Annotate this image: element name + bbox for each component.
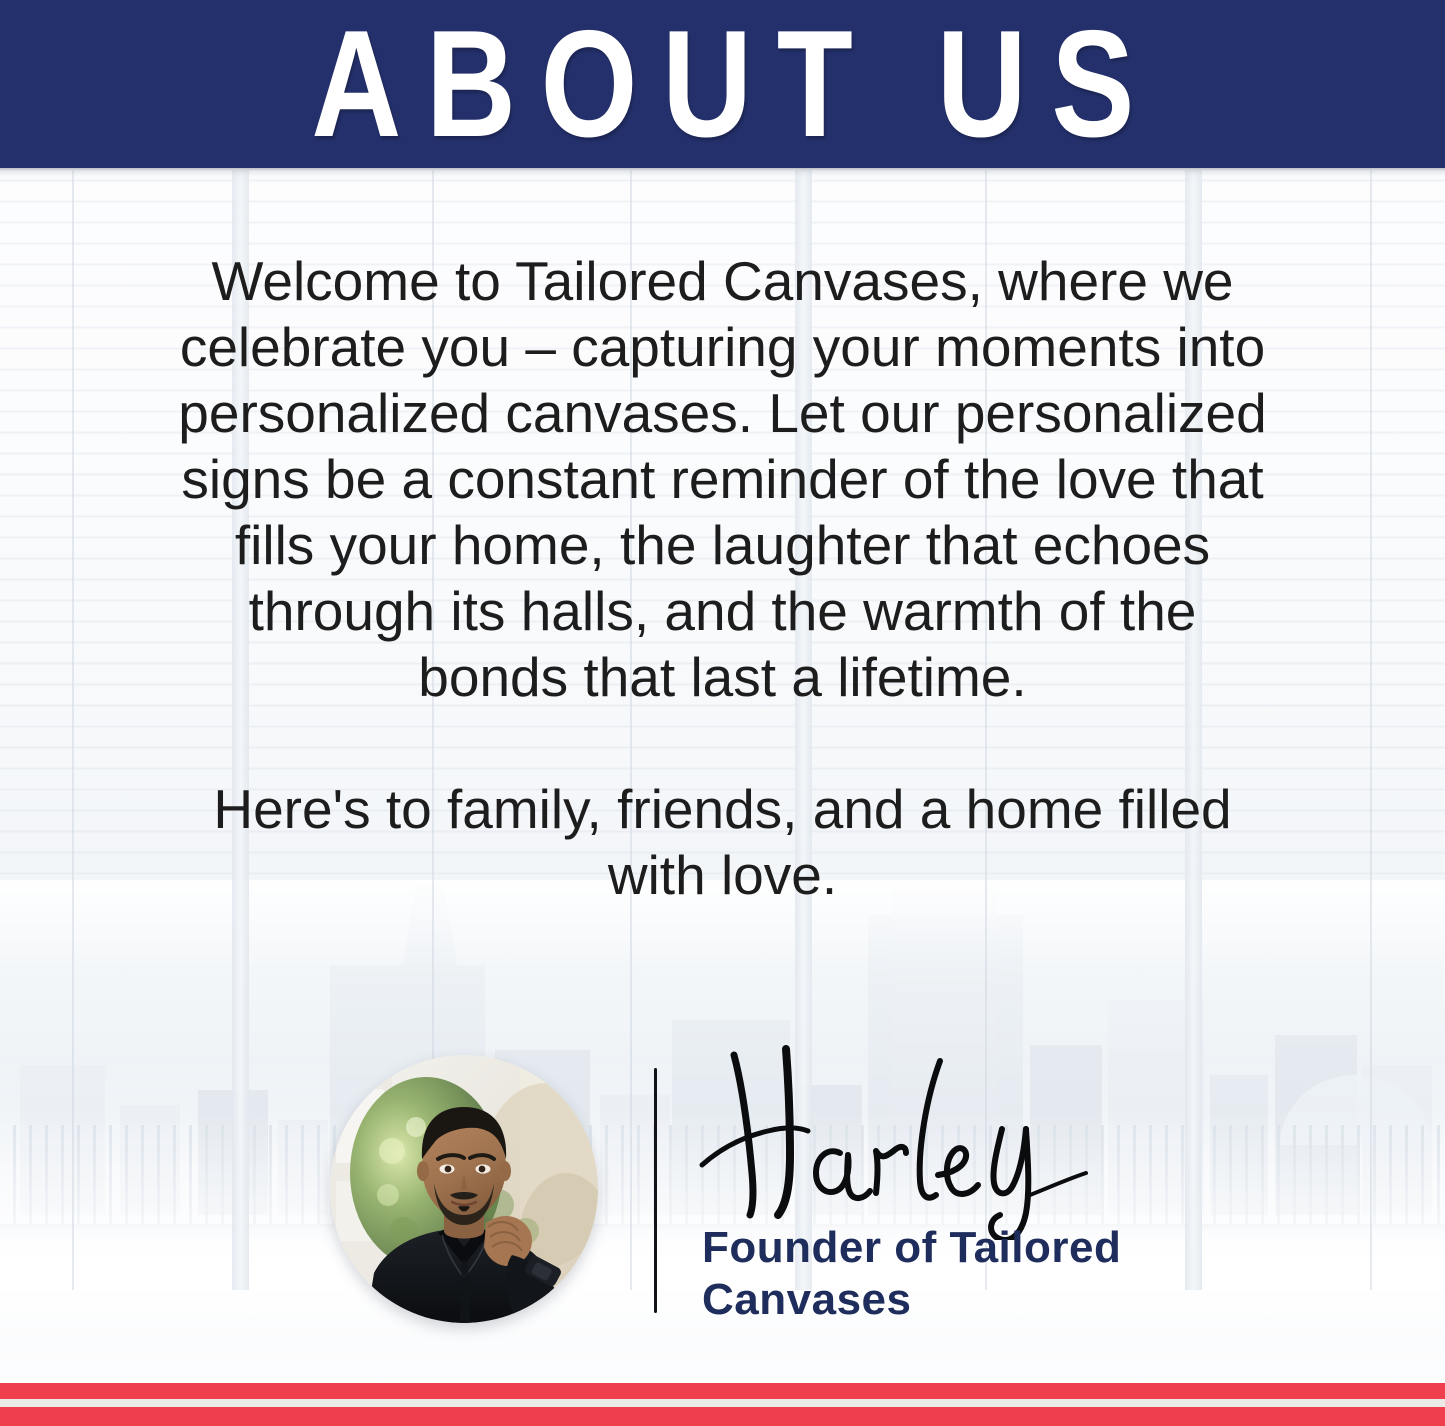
about-us-banner: ABOUT US — [0, 0, 1445, 168]
founder-role: Founder of Tailored Canvases — [702, 1222, 1262, 1326]
about-us-page: ABOUT US Welcome to Tailored Canvases, w… — [0, 0, 1445, 1426]
paragraph-spacer — [175, 710, 1270, 776]
signature — [690, 1045, 1120, 1240]
banner-drop-shadow — [0, 168, 1445, 184]
founder-role-line-1: Founder of Tailored — [702, 1222, 1262, 1274]
footer-stripe-top — [0, 1383, 1445, 1399]
about-us-body: Welcome to Tailored Canvases, where we c… — [175, 248, 1270, 908]
footer-stripe-bottom — [0, 1407, 1445, 1426]
page-title: ABOUT US — [286, 8, 1158, 160]
footer-stripe-gap — [0, 1399, 1445, 1407]
founder-role-line-2: Canvases — [702, 1274, 1262, 1326]
body-paragraph-2: Here's to family, friends, and a home fi… — [175, 776, 1270, 908]
avatar — [330, 1055, 598, 1323]
body-paragraph-1: Welcome to Tailored Canvases, where we c… — [175, 248, 1270, 710]
vertical-divider — [654, 1068, 657, 1313]
